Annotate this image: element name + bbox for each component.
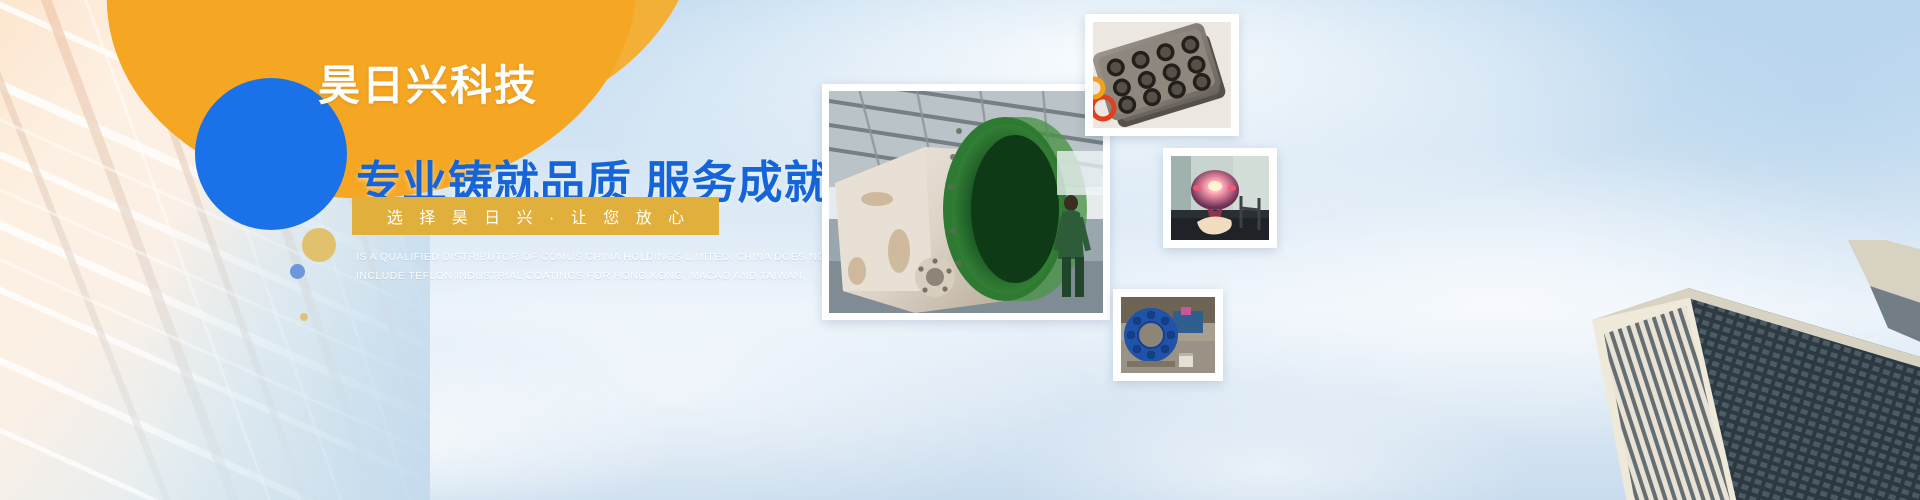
flange-illustration [1121, 297, 1215, 373]
vessel-illustration [829, 91, 1103, 313]
photo-blue-flange [1113, 289, 1223, 381]
legal-line-2: INCLUDE TEFLON INDUSTRIAL COATINGS FOR H… [356, 267, 756, 286]
blue-dot-small-decor [290, 264, 305, 279]
legal-disclaimer: IS A QUALIFIED DISTRIBUTOR OF COMUS CHIN… [356, 248, 756, 286]
bakeware-illustration [1093, 22, 1231, 128]
photo-heat-lamp-image [1171, 156, 1269, 240]
sub-slogan-text: 选 择 昊 日 兴 · 让 您 放 心 [381, 204, 690, 228]
gold-dot-tiny-decor [300, 313, 308, 321]
photo-bakeware-tray-image [1093, 22, 1231, 128]
photo-industrial-vessel-image [829, 91, 1103, 313]
sub-slogan-bar: 选 择 昊 日 兴 · 让 您 放 心 [352, 197, 719, 235]
gold-dot-large-decor [302, 228, 336, 262]
photo-blue-flange-image [1121, 297, 1215, 373]
legal-line-1: IS A QUALIFIED DISTRIBUTOR OF COMUS CHIN… [356, 248, 756, 267]
heat-lamp-illustration [1171, 156, 1269, 240]
promotional-banner: 昊日兴科技 专业铸就品质 服务成就辉煌 选 择 昊 日 兴 · 让 您 放 心 … [0, 0, 1920, 500]
photo-industrial-vessel [822, 84, 1110, 320]
photo-heat-lamp [1163, 148, 1277, 248]
architecture-skyscraper-right [1580, 240, 1920, 500]
company-name: 昊日兴科技 [318, 52, 538, 113]
photo-bakeware-tray [1085, 14, 1239, 136]
skyscraper-svg [1580, 240, 1920, 500]
